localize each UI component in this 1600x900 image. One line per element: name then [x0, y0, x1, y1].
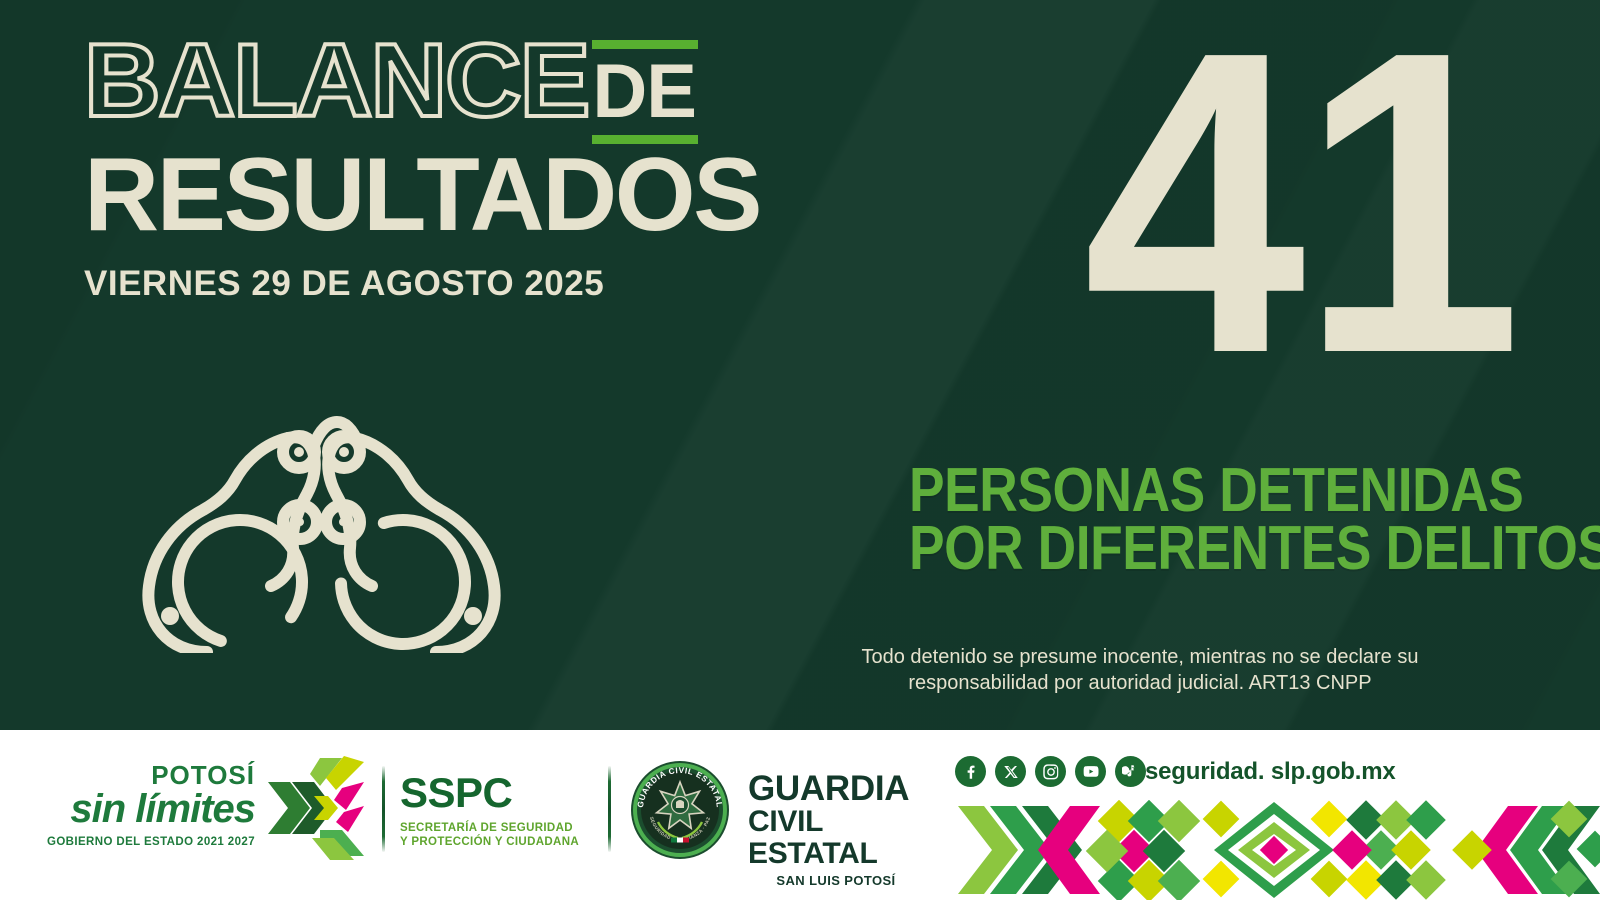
sspc-acronym: SSPC	[400, 772, 595, 814]
handcuffs-icon	[95, 408, 540, 653]
stat-headline: PERSONAS DETENIDAS POR DIFERENTES DELITO…	[909, 462, 1511, 579]
disclaimer-line-2: responsabilidad por autoridad judicial. …	[800, 671, 1480, 697]
title-block: BALANCE DE RESULTADOS VIERNES 29 DE AGOS…	[84, 34, 784, 304]
disclaimer-line-1: Todo detenido se presume inocente, mient…	[800, 645, 1480, 671]
title-rule-top	[592, 40, 698, 49]
footer-divider-1	[382, 766, 385, 852]
logo-guardia-civil-estatal: GUARDIA CIVIL ESTATAL SEGURIDAD · CONFIA…	[630, 758, 930, 870]
logo-potosi-sin-limites: POTOSÍ sin límites GOBIERNO DEL ESTADO 2…	[40, 758, 370, 868]
sspc-subtitle: SECRETARÍA DE SEGURIDAD Y PROTECCIÓN Y C…	[400, 821, 595, 850]
title-word-balance: BALANCE	[84, 34, 588, 130]
youtube-icon[interactable]	[1075, 756, 1106, 787]
social-links[interactable]	[955, 756, 1146, 787]
potosi-line-2: sin límites	[40, 789, 255, 829]
guardia-name-line-1: GUARDIA	[748, 771, 930, 806]
footer-divider-2	[608, 766, 611, 852]
sspc-subtitle-line-1: SECRETARÍA DE SEGURIDAD	[400, 821, 595, 835]
legal-disclaimer: Todo detenido se presume inocente, mient…	[800, 645, 1480, 696]
website-url[interactable]: seguridad. slp.gob.mx	[1145, 758, 1396, 786]
infographic-canvas: BALANCE DE RESULTADOS VIERNES 29 DE AGOS…	[0, 0, 1600, 900]
guardia-badge-icon: GUARDIA CIVIL ESTATAL SEGURIDAD · CONFIA…	[630, 760, 730, 860]
title-de-group: DE	[592, 40, 698, 144]
title-word-de: DE	[592, 56, 698, 129]
title-date: VIERNES 29 DE AGOSTO 2025	[84, 264, 784, 304]
potosi-line-3: GOBIERNO DEL ESTADO 2021 2027	[40, 836, 255, 848]
sspc-subtitle-line-2: Y PROTECCIÓN Y CIUDADANA	[400, 835, 595, 849]
x-icon[interactable]	[995, 756, 1026, 787]
footer-bar: POTOSÍ sin límites GOBIERNO DEL ESTADO 2…	[0, 730, 1600, 900]
facebook-icon[interactable]	[955, 756, 986, 787]
guardia-name-line-3: SAN LUIS POTOSÍ	[748, 873, 924, 888]
potosi-wordmark: POTOSÍ sin límites GOBIERNO DEL ESTADO 2…	[40, 762, 255, 848]
stat-number: 41	[1058, 0, 1542, 418]
guardia-name-line-2: CIVIL ESTATAL	[748, 806, 930, 869]
title-word-resultados: RESULTADOS	[84, 148, 784, 244]
stat-headline-line-2: POR DIFERENTES DELITOS	[909, 520, 1511, 578]
instagram-icon[interactable]	[1035, 756, 1066, 787]
guardia-wordmark: GUARDIA CIVIL ESTATAL SAN LUIS POTOSÍ	[748, 771, 930, 888]
tiktok-icon[interactable]	[1115, 756, 1146, 787]
logo-sspc: SSPC SECRETARÍA DE SEGURIDAD Y PROTECCIÓ…	[400, 772, 595, 850]
title-first-line: BALANCE DE	[84, 34, 784, 144]
decorative-pattern-strip	[950, 800, 1600, 900]
potosi-line-1: POTOSÍ	[40, 762, 255, 788]
potosi-star-mark-icon	[262, 752, 370, 864]
stat-headline-line-1: PERSONAS DETENIDAS	[909, 462, 1511, 520]
